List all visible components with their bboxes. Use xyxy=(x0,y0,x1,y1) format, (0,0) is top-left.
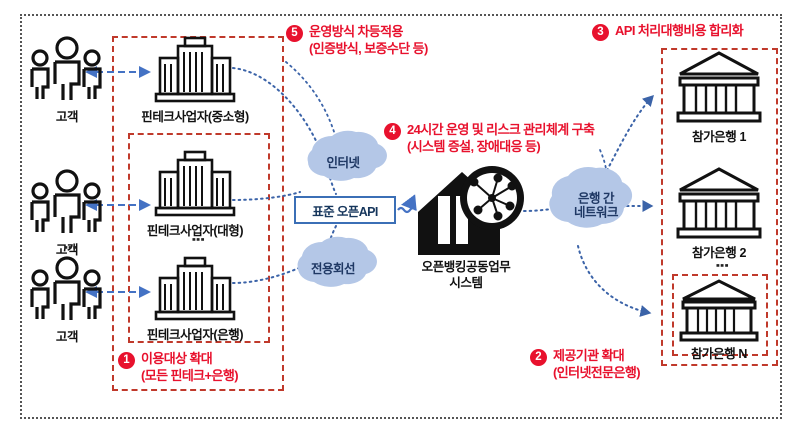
annotation-5: 5 운영방식 차등적용 (인증방식, 보증수단 등) xyxy=(286,24,526,58)
annotation-1: 1 이용대상 확대 (모든 핀테크+은행) xyxy=(118,351,298,385)
annotation-4-text: 24시간 운영 및 리스크 관리체계 구축 (시스템 증설, 장애대응 등) xyxy=(407,122,594,156)
standard-open-api-box[interactable]: 표준 오픈API xyxy=(294,196,396,224)
fintech-label-1: 핀테크사업자(중소형) xyxy=(125,106,265,125)
annotation-2: 2 제공기관 확대 (인터넷전문은행) xyxy=(530,348,680,382)
customer-label-1: 고객 xyxy=(40,106,94,125)
annotation-3: 3 API 처리대행비용 합리화 xyxy=(592,23,802,41)
annotation-4: 4 24시간 운영 및 리스크 관리체계 구축 (시스템 증설, 장애대응 등) xyxy=(384,122,684,156)
cloud-internet-label: 인터넷 xyxy=(300,156,386,170)
annotation-2-text: 제공기관 확대 (인터넷전문은행) xyxy=(553,348,640,382)
cloud-internet: 인터넷 xyxy=(300,132,386,194)
fintech-label-3: 핀테크사업자(은행) xyxy=(125,324,265,343)
diagram-canvas: 인터넷 전용회선 은행 간 네트워크 표준 오픈API 고객 고객 고객 핀테크… xyxy=(0,0,803,434)
standard-open-api-label: 표준 오픈API xyxy=(312,201,378,220)
cloud-interbank-network: 은행 간 네트워크 xyxy=(544,170,648,242)
cloud-interbank-network-label: 은행 간 네트워크 xyxy=(544,192,648,221)
annotation-1-text: 이용대상 확대 (모든 핀테크+은행) xyxy=(141,351,238,385)
system-label-line1: 오픈뱅킹공동업무 xyxy=(406,260,526,276)
fintech-ellipsis: ⋮ xyxy=(188,232,202,246)
customer-label-3: 고객 xyxy=(40,326,94,345)
annotation-4-badge: 4 xyxy=(384,123,401,140)
system-label-line2: 시스템 xyxy=(406,276,526,292)
annotation-5-badge: 5 xyxy=(286,25,303,42)
annotation-2-badge: 2 xyxy=(530,349,547,366)
bank-label-3: 참가은행 N xyxy=(664,343,774,362)
bank-ellipsis: ⋮ xyxy=(712,258,726,272)
cloud-leased-line: 전용회선 xyxy=(290,238,376,300)
system-label: 오픈뱅킹공동업무 시스템 xyxy=(406,260,526,291)
annotation-5-text: 운영방식 차등적용 (인증방식, 보증수단 등) xyxy=(309,24,428,58)
annotation-3-text: API 처리대행비용 합리화 xyxy=(615,23,743,40)
customer-ellipsis: ⋮ xyxy=(60,240,74,254)
cloud-leased-line-label: 전용회선 xyxy=(290,262,376,276)
annotation-1-badge: 1 xyxy=(118,352,135,369)
annotation-3-badge: 3 xyxy=(592,24,609,41)
